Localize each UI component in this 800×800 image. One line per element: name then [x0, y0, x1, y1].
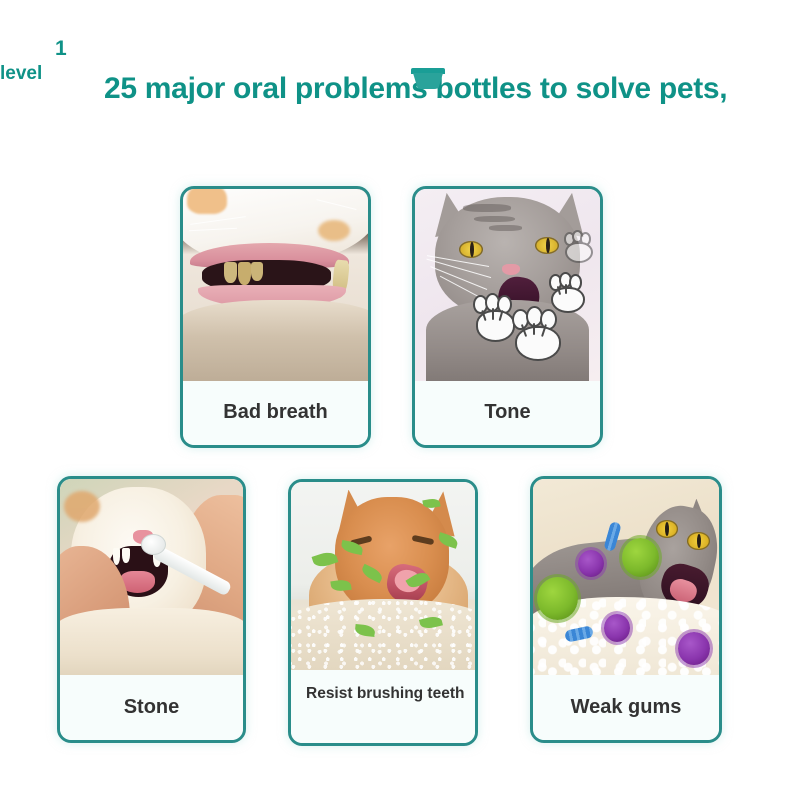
paw-sticker	[563, 231, 591, 260]
card-caption-stone: Stone	[60, 675, 243, 740]
problem-card-bad-breath[interactable]: Bad breath	[180, 186, 371, 448]
card-label: Tone	[415, 401, 600, 424]
page-title: 25 major oral problems bottles to solve …	[104, 69, 764, 109]
card-caption-tone: Tone	[415, 381, 600, 445]
problem-card-resist-brushing-teeth[interactable]: Resist brushing teeth	[288, 479, 478, 746]
germ-icon	[678, 632, 710, 665]
germ-icon	[537, 577, 578, 620]
germ-icon	[604, 614, 630, 641]
poster-page: 1 level 25 major oral problems bottles t…	[0, 0, 800, 800]
card-label: Resist brushing teeth	[291, 684, 475, 704]
germ-icon	[578, 550, 604, 577]
paw-sticker	[472, 295, 515, 339]
problem-card-stone[interactable]: Stone	[57, 476, 246, 743]
card-caption-bad-breath: Bad breath	[183, 381, 368, 445]
card-label: Bad breath	[183, 401, 368, 424]
card-image-weak-gums	[533, 479, 719, 675]
card-label: Stone	[60, 696, 243, 719]
level-label: level	[0, 62, 44, 85]
header: 1 level 25 major oral problems bottles t…	[0, 0, 800, 178]
level-number: 1	[55, 38, 101, 59]
card-label: Weak gums	[533, 696, 719, 719]
paw-sticker	[511, 308, 561, 358]
card-image-bad-breath	[183, 189, 368, 381]
card-caption-resist-brushing-teeth: Resist brushing teeth	[291, 670, 475, 743]
paw-sticker	[548, 273, 583, 309]
card-image-resist-brushing-teeth	[291, 482, 475, 670]
card-caption-weak-gums: Weak gums	[533, 675, 719, 740]
card-image-tone	[415, 189, 600, 381]
card-image-stone	[60, 479, 243, 675]
level-badge: 1	[55, 38, 101, 59]
problem-card-weak-gums[interactable]: Weak gums	[530, 476, 722, 743]
problem-card-tone[interactable]: Tone	[412, 186, 603, 448]
